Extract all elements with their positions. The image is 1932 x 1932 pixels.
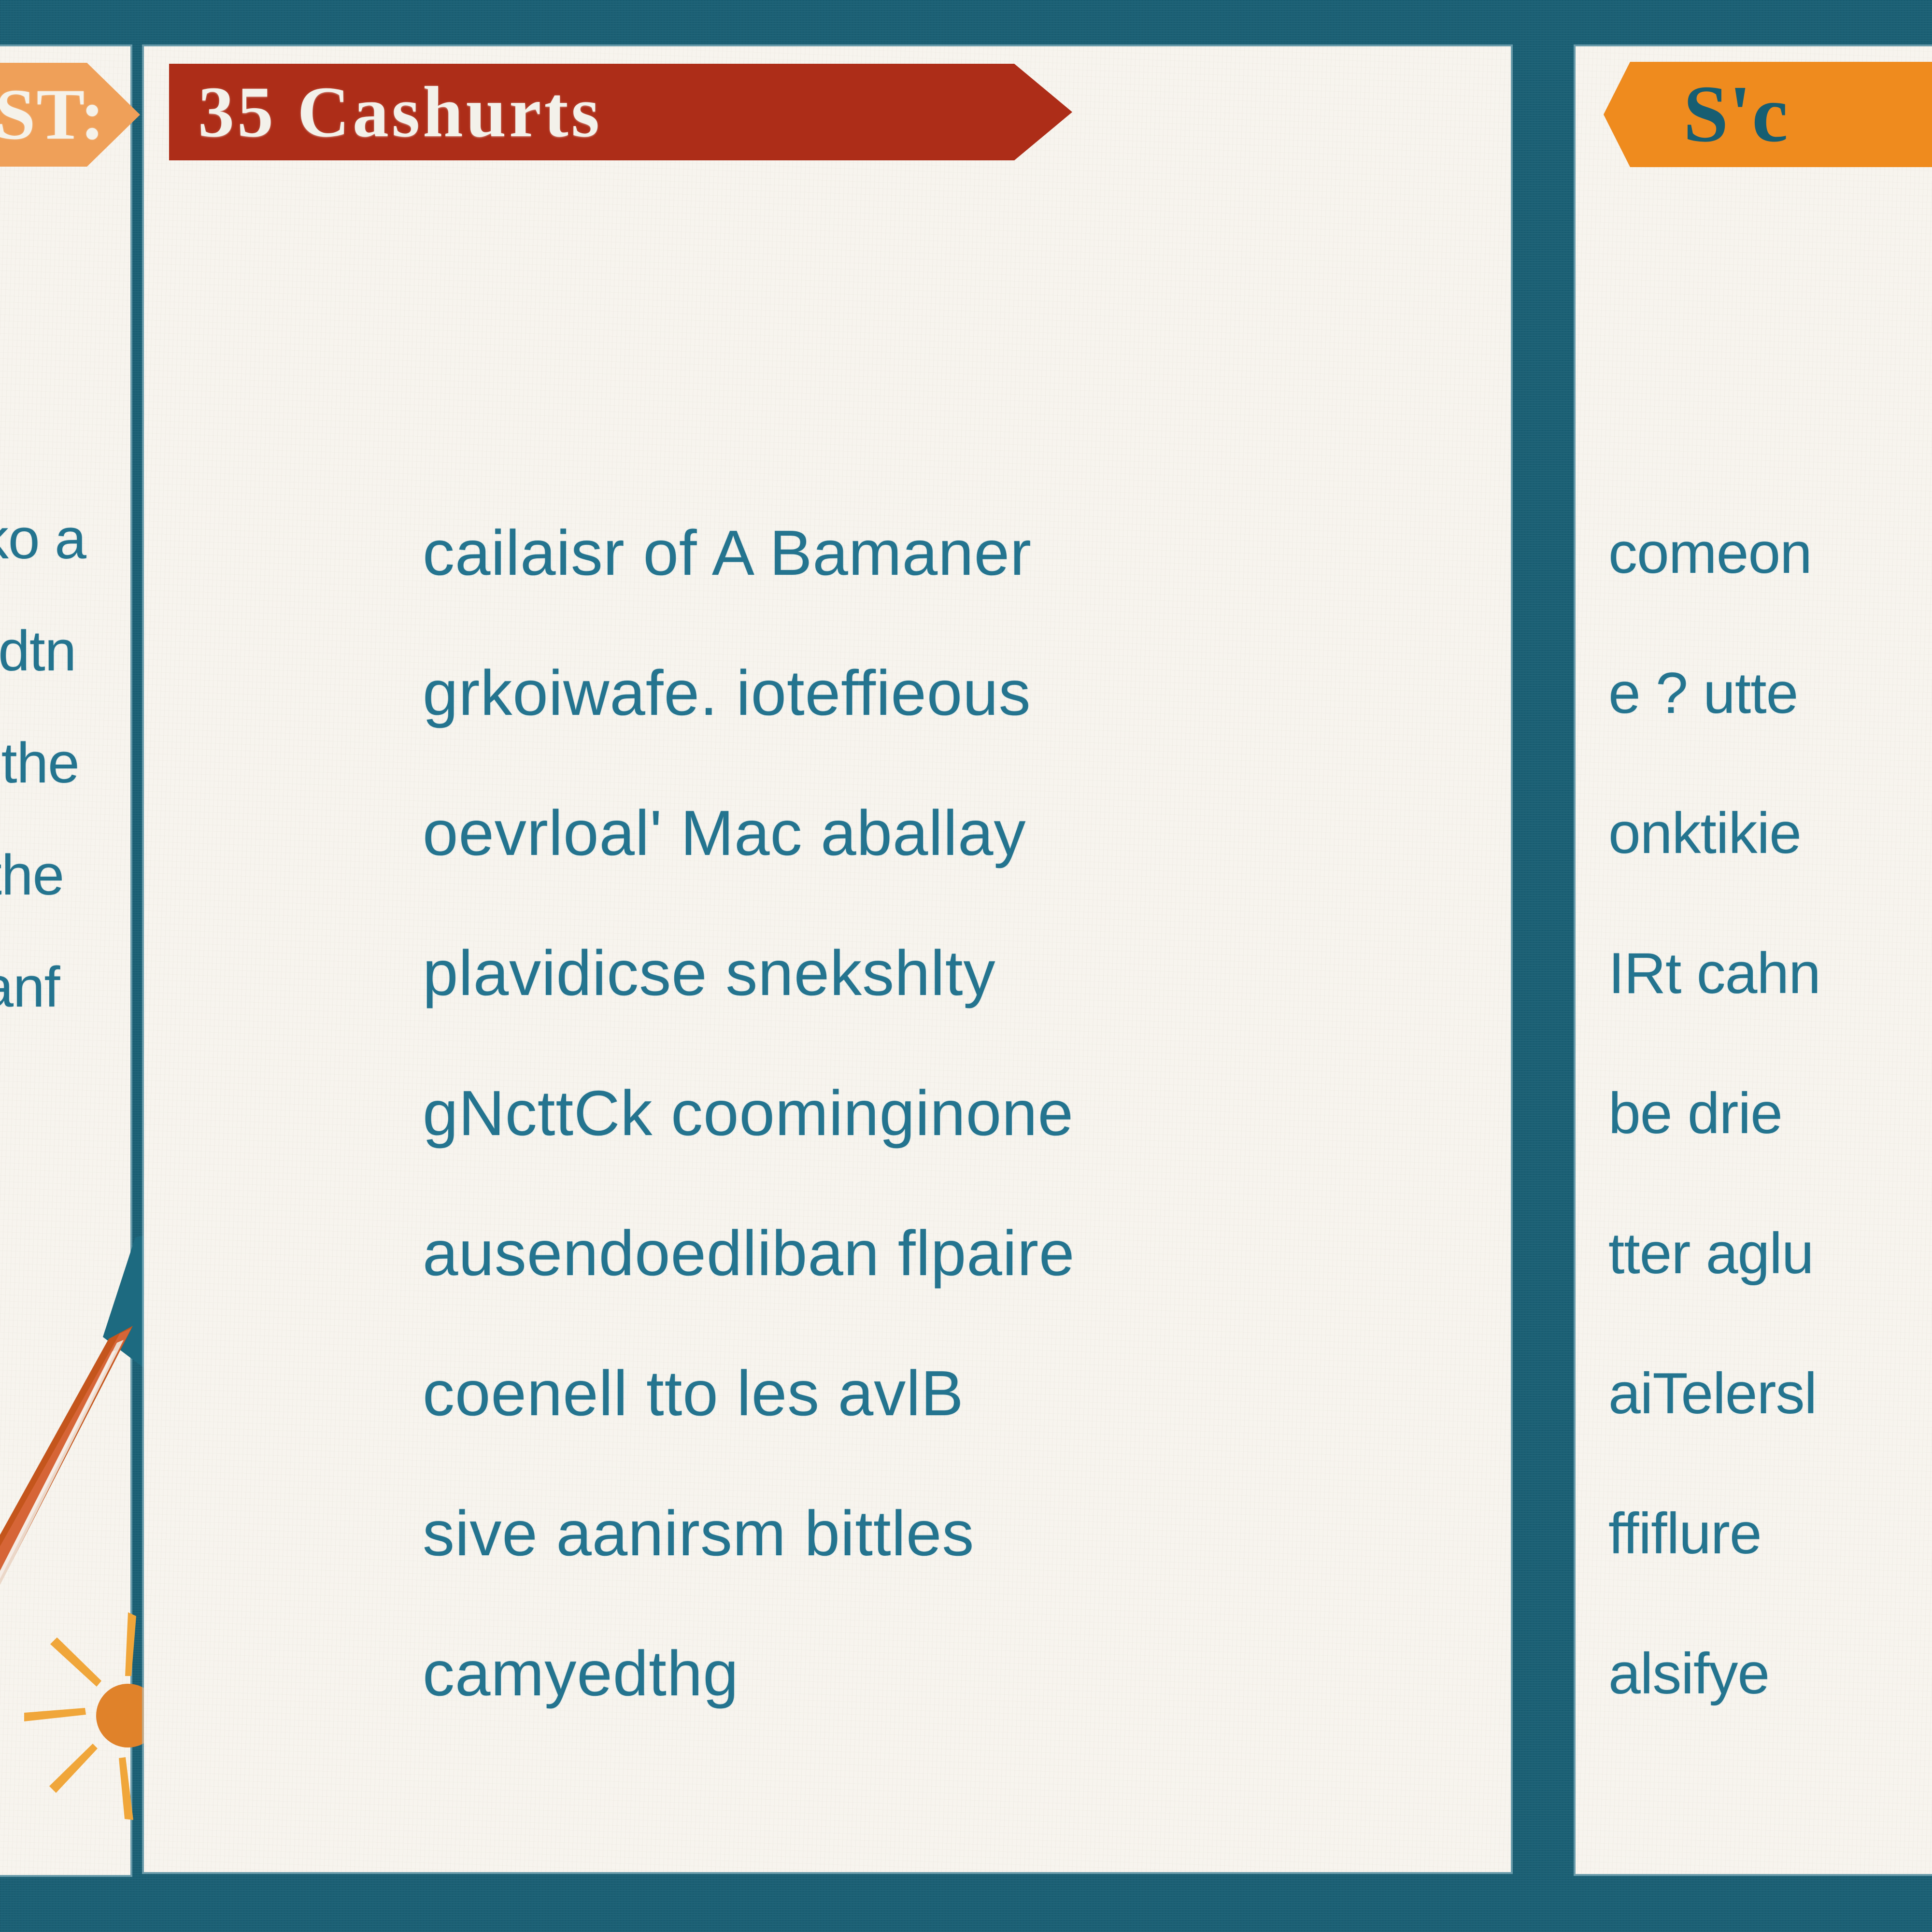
right-panel-line: comeon — [1608, 483, 1820, 623]
center-panel-line: cailaisr of A Bamaner — [423, 483, 1075, 623]
right-panel-line: e ? utte — [1608, 623, 1820, 763]
left-panel-text-block: Roko a ut vdtn ser the ug the tit tanf o… — [0, 483, 86, 1155]
center-panel-line: plavidicse snekshlty — [423, 903, 1075, 1043]
poster-canvas: ST: Roko a ut vdtn ser the ug the tit ta… — [0, 0, 1932, 1932]
center-panel-line: ausendoedliban flpaire — [423, 1183, 1075, 1323]
right-panel-text-block: comeon e ? utte onktikie IRt cahn be dri… — [1608, 483, 1820, 1744]
center-panel-banner-label: 35 Cashurts — [198, 78, 602, 147]
left-panel-line: ut vdtn — [0, 595, 86, 707]
right-panel-line: be drie — [1608, 1043, 1820, 1183]
left-panel-line: ot — [0, 1043, 86, 1155]
center-panel-line: coenell tto les avlB — [423, 1323, 1075, 1463]
center-panel-line: sive aanirsm bittles — [423, 1463, 1075, 1604]
center-panel-line: camyedthg — [423, 1604, 1075, 1744]
left-panel-line: ser the — [0, 707, 86, 819]
right-panel-line: tter aglu — [1608, 1183, 1820, 1323]
right-panel-line: IRt cahn — [1608, 903, 1820, 1043]
center-panel-banner: 35 Cashurts — [169, 64, 1072, 160]
center-panel-line: grkoiwafe. ioteffieous — [423, 623, 1075, 763]
center-panel-line: oevrloal' Mac aballay — [423, 763, 1075, 903]
left-panel-line: tit tanf — [0, 931, 86, 1043]
right-panel-line: aiTelersl — [1608, 1323, 1820, 1463]
left-panel-line: ug the — [0, 819, 86, 931]
right-panel-line: onktikie — [1608, 763, 1820, 903]
center-panel-line: gNcttCk coominginone — [423, 1043, 1075, 1183]
right-panel-line: alsifye — [1608, 1604, 1820, 1744]
center-panel-text-block: cailaisr of A Bamaner grkoiwafe. ioteffi… — [423, 483, 1075, 1744]
right-panel-banner-label: S'c — [1683, 76, 1789, 153]
right-panel-line: ffiflure — [1608, 1463, 1820, 1604]
right-panel-banner: S'c — [1604, 62, 1932, 167]
left-panel-line: Roko a — [0, 483, 86, 595]
left-panel-banner-label: ST: — [0, 80, 105, 149]
